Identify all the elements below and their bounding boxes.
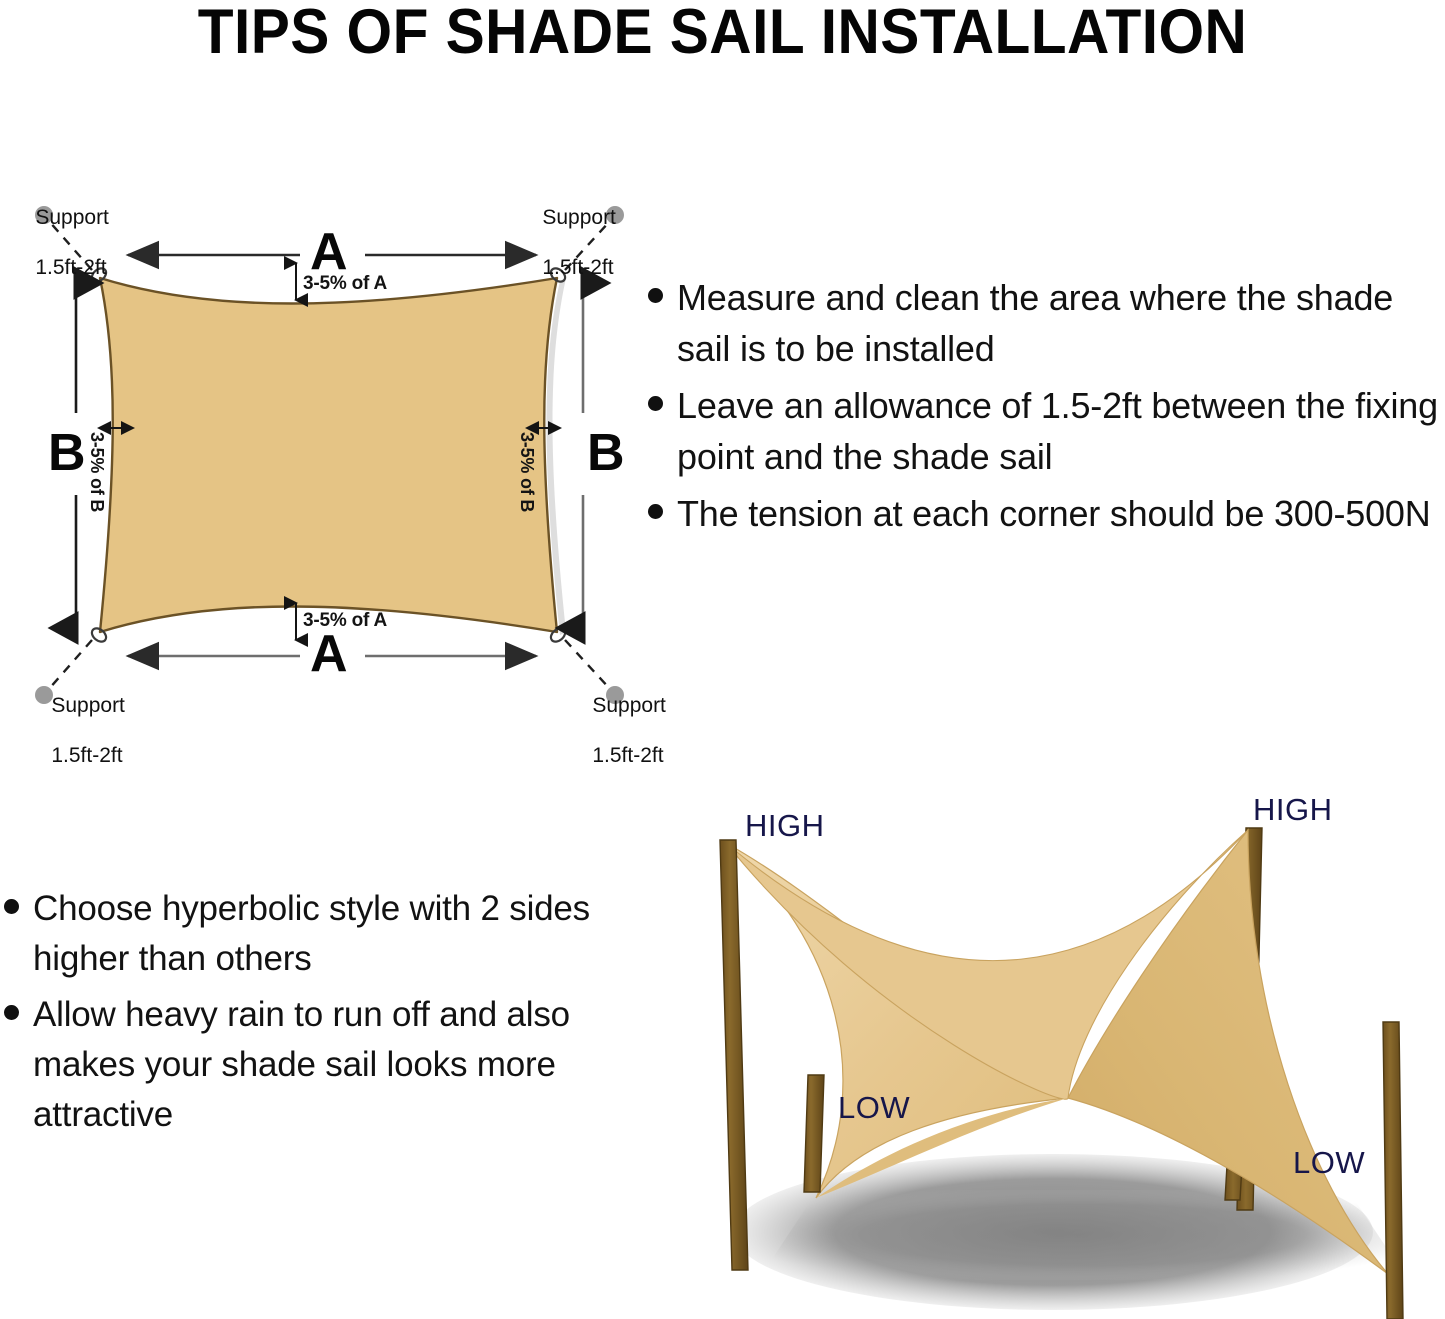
support-label-bottom-left: Support 1.5ft-2ft: [28, 668, 125, 793]
rectangular-sail-diagram: Support 1.5ft-2ft Support 1.5ft-2ft Supp…: [0, 160, 660, 740]
tips-list-right: Measure and clean the area where the sha…: [648, 272, 1445, 545]
curve-allowance-bottom: 3-5% of A: [303, 610, 387, 632]
sail-body: [100, 278, 557, 632]
bullet-dot-icon: [648, 288, 663, 303]
corner-label-top-left: HIGH: [745, 808, 825, 844]
hyperbolic-sail-diagram: HIGH HIGH LOW LOW: [648, 780, 1445, 1319]
support-label-top-left: Support 1.5ft-2ft: [12, 180, 109, 305]
dimension-letter-left-B: B: [48, 423, 86, 483]
corner-label-bottom-left: LOW: [838, 1090, 910, 1126]
list-item: Measure and clean the area where the sha…: [648, 272, 1445, 374]
bullet-dot-icon: [4, 899, 19, 914]
post-left-high: [720, 840, 748, 1270]
list-item-text: The tension at each corner should be 300…: [677, 488, 1445, 539]
support-label-bottom-right: Support 1.5ft-2ft: [569, 668, 666, 793]
dimension-letter-right-B: B: [587, 423, 625, 483]
post-left-low: [804, 1075, 824, 1192]
bullet-dot-icon: [4, 1005, 19, 1020]
curve-allowance-top: 3-5% of A: [303, 273, 387, 295]
list-item-text: Leave an allowance of 1.5-2ft between th…: [677, 380, 1445, 482]
page-title: TIPS OF SHADE SAIL INSTALLATION: [51, 0, 1395, 68]
curve-allowance-right: 3-5% of B: [516, 432, 537, 512]
bullet-dot-icon: [648, 396, 663, 411]
dimension-letter-bottom-A: A: [310, 624, 348, 684]
list-item: Leave an allowance of 1.5-2ft between th…: [648, 380, 1445, 482]
list-item: Allow heavy rain to run off and also mak…: [4, 990, 629, 1140]
list-item-text: Choose hyperbolic style with 2 sides hig…: [33, 884, 629, 984]
corner-label-bottom-right: LOW: [1293, 1145, 1365, 1181]
hyperbolic-sail-svg: [648, 780, 1445, 1319]
post-right-low: [1383, 1022, 1403, 1319]
support-label-top-right: Support 1.5ft-2ft: [519, 180, 616, 305]
list-item: The tension at each corner should be 300…: [648, 488, 1445, 539]
bullet-dot-icon: [648, 504, 663, 519]
list-item-text: Measure and clean the area where the sha…: [677, 272, 1445, 374]
tips-list-bottom-left: Choose hyperbolic style with 2 sides hig…: [4, 884, 629, 1146]
curve-allowance-left: 3-5% of B: [86, 432, 107, 512]
list-item: Choose hyperbolic style with 2 sides hig…: [4, 884, 629, 984]
list-item-text: Allow heavy rain to run off and also mak…: [33, 990, 629, 1140]
corner-label-top-right: HIGH: [1253, 792, 1333, 828]
